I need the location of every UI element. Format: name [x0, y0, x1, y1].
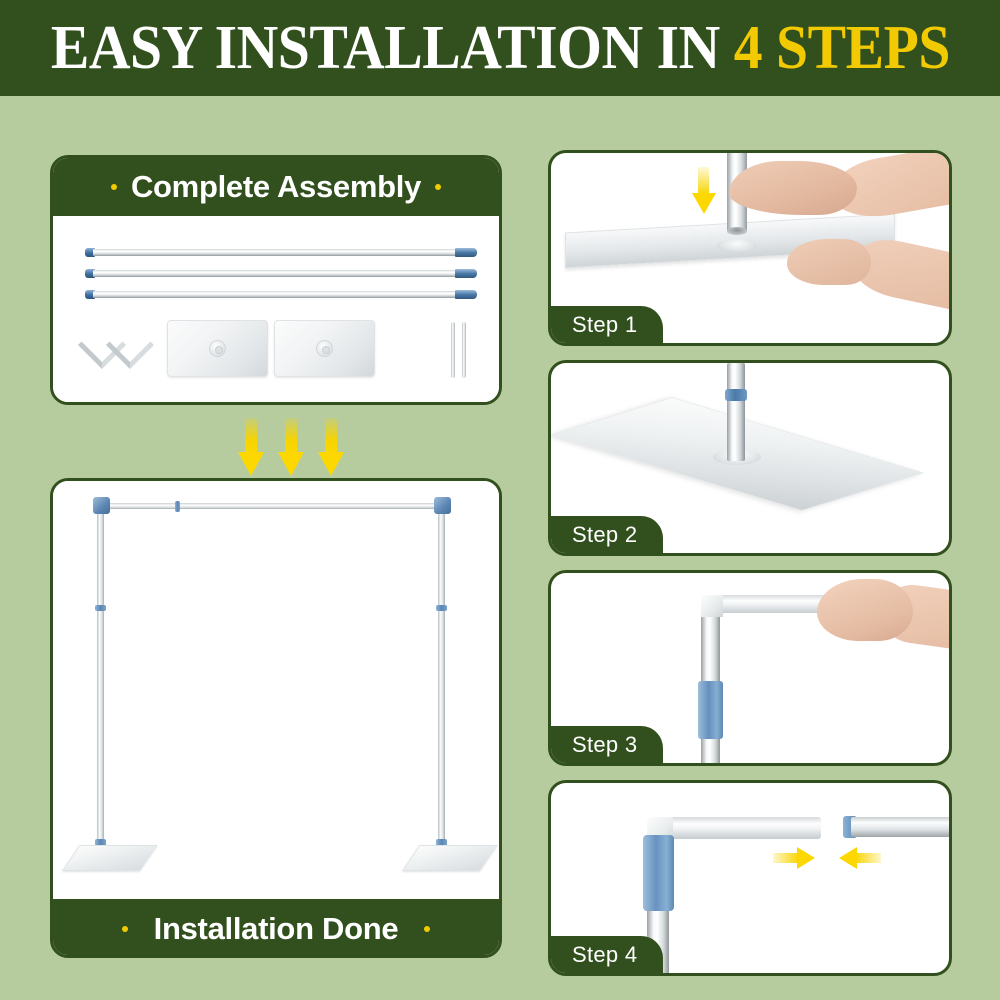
- installation-done-footer: Installation Done: [53, 899, 499, 958]
- pole-tube: [93, 249, 461, 256]
- base-plate-hub-icon: [717, 239, 757, 252]
- page-title-accent: 4 STEPS: [733, 14, 949, 82]
- arrow-left-icon: [839, 847, 881, 869]
- step-4-tab: Step 4: [550, 936, 663, 974]
- arrow-down-icon: [318, 418, 344, 476]
- step-1-tab: Step 1: [550, 306, 663, 344]
- hand-gripping-connector: [817, 579, 913, 641]
- rail-joint-collar: [175, 501, 180, 512]
- bullet-dot-icon: [122, 926, 128, 932]
- arrow-down-icon: [278, 418, 304, 476]
- step-3-panel: Step 3: [548, 570, 952, 766]
- pole-tube: [93, 291, 461, 298]
- installation-done-panel: Installation Done: [50, 478, 502, 958]
- base-plate: [274, 320, 375, 377]
- step-2-tab: Step 2: [550, 516, 663, 554]
- telescoping-pole: [727, 363, 745, 461]
- locking-collar: [725, 389, 747, 401]
- complete-assembly-parts-art: [53, 216, 499, 402]
- hand-gripping-pole: [729, 161, 857, 215]
- complete-assembly-header: Complete Assembly: [53, 158, 499, 216]
- arrow-down-icon: [238, 418, 264, 476]
- locking-collar: [643, 835, 674, 911]
- corner-connector-elbow: [434, 497, 451, 514]
- pole-tube: [93, 270, 461, 277]
- frame-left-upright: [97, 507, 104, 857]
- telescoping-pole-section: [851, 817, 949, 837]
- page-title-main: EASY INSTALLATION IN: [50, 14, 719, 82]
- base-plate-hub-icon: [209, 340, 226, 357]
- pole-end-cap-icon: [455, 290, 477, 299]
- step-4-panel: Step 4: [548, 780, 952, 976]
- complete-assembly-title: Complete Assembly: [131, 169, 421, 205]
- bullet-dot-icon: [111, 184, 117, 190]
- corner-connector-elbow: [93, 497, 110, 514]
- header-banner: EASY INSTALLATION IN 4 STEPS: [0, 0, 1000, 96]
- complete-assembly-panel: Complete Assembly: [50, 155, 502, 405]
- telescoping-pole: [85, 248, 477, 257]
- upright-joint-collar: [95, 605, 106, 611]
- base-plate-foot: [402, 845, 498, 871]
- upright-joint-collar: [436, 605, 447, 611]
- transition-arrow-group: [238, 418, 348, 476]
- corner-connector-elbow: [701, 595, 723, 617]
- step-1-panel: Step 1: [548, 150, 952, 346]
- arrow-right-icon: [773, 847, 815, 869]
- corner-connector: [106, 321, 154, 369]
- page-title: EASY INSTALLATION IN 4 STEPS: [50, 13, 949, 84]
- installation-done-title: Installation Done: [154, 911, 399, 947]
- pole-open-end: [727, 227, 747, 235]
- frame-right-upright: [438, 507, 445, 857]
- pole-end-cap-icon: [455, 248, 477, 257]
- step-2-label: Step 2: [572, 522, 637, 548]
- arrow-down-icon: [692, 167, 716, 215]
- step-4-label: Step 4: [572, 942, 637, 968]
- step-3-label: Step 3: [572, 732, 637, 758]
- step-2-panel: Step 2: [548, 360, 952, 556]
- locking-pin: [451, 322, 455, 378]
- assembled-frame-art: [53, 481, 499, 899]
- hand-holding-plate: [787, 239, 871, 285]
- base-plate-foot: [62, 845, 158, 871]
- corner-connector-arm: [663, 817, 821, 839]
- telescoping-pole: [85, 290, 477, 299]
- locking-collar: [698, 681, 723, 739]
- step-3-tab: Step 3: [550, 726, 663, 764]
- step-1-label: Step 1: [572, 312, 637, 338]
- bullet-dot-icon: [435, 184, 441, 190]
- telescoping-pole: [85, 269, 477, 278]
- bullet-dot-icon: [424, 926, 430, 932]
- locking-pin: [462, 322, 466, 378]
- base-plate-hub-icon: [316, 340, 333, 357]
- pole-end-cap-icon: [455, 269, 477, 278]
- frame-top-rail: [97, 503, 445, 509]
- base-plate: [167, 320, 268, 377]
